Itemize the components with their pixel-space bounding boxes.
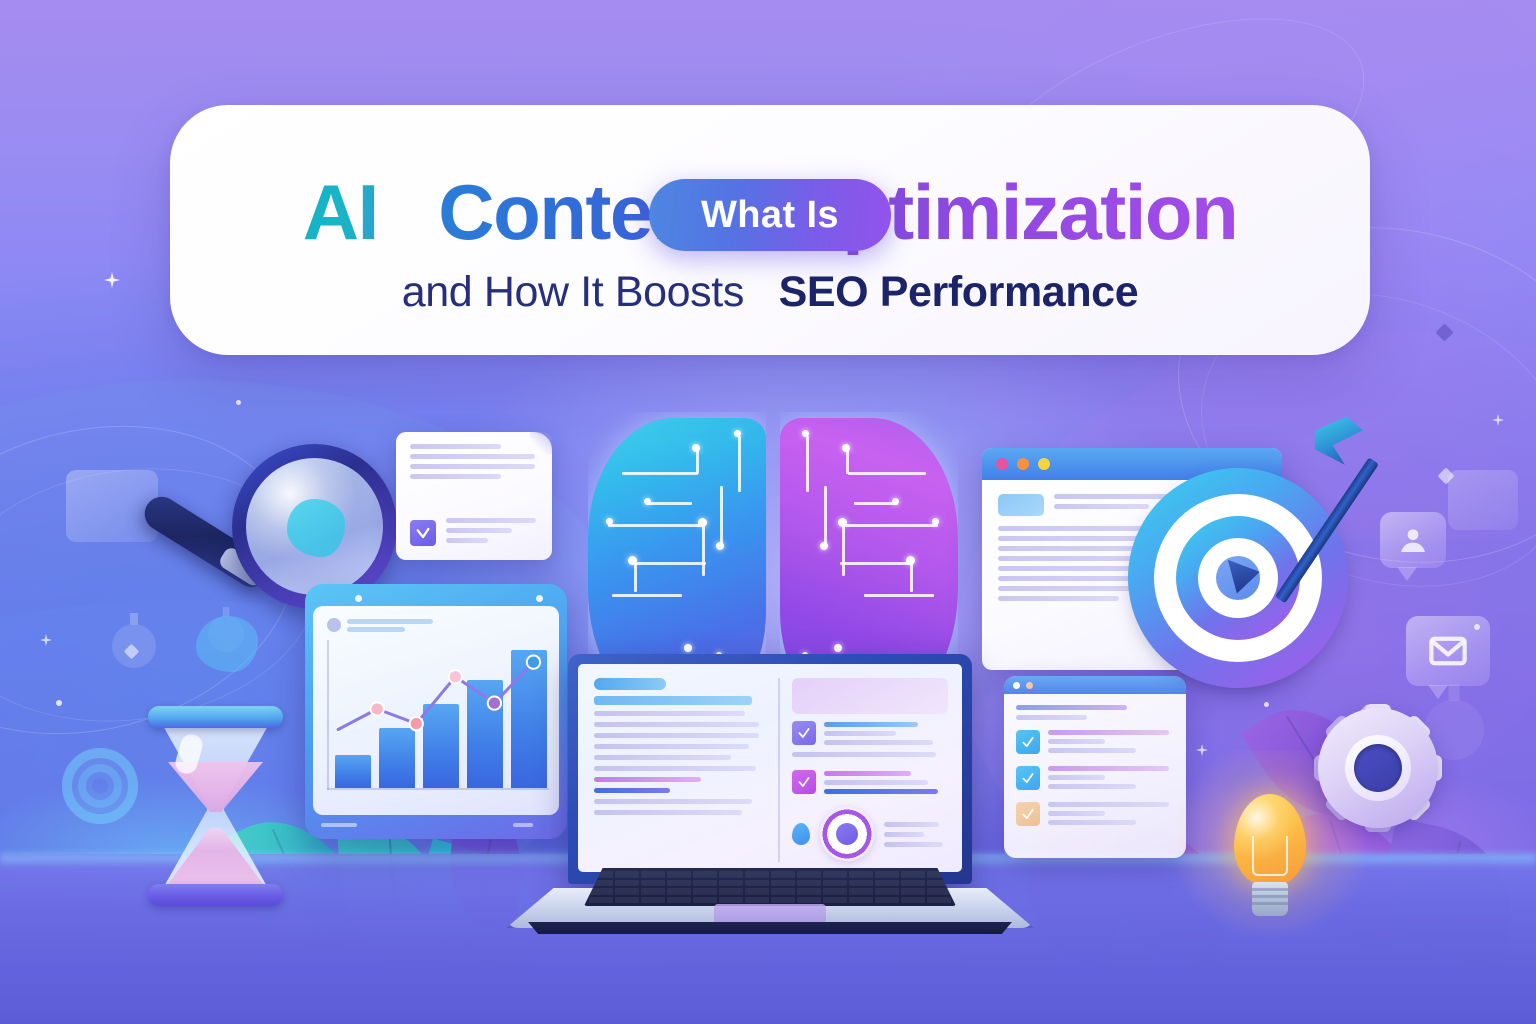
keyboard-key [615,880,639,887]
keyboard-key [797,880,821,887]
progress-donut-icon [820,807,874,861]
checklist-item-lines [1048,730,1174,757]
keyboard-key [823,888,847,895]
screen-checklist-item [792,770,948,794]
chart-data-point [410,717,423,730]
subtitle-bold: SEO Performance [779,268,1139,316]
document-text-line [446,538,488,543]
keyboard-key [771,897,795,904]
checklist-text-line [1048,739,1105,744]
keyboard-key [615,897,639,904]
keyboard-key [875,897,899,904]
page-subtitle: and How It Boosts SEO Performance [402,271,1138,314]
keyboard-key [875,880,899,887]
keyboard-key [667,897,691,904]
keyboard-key [693,888,717,895]
document-card-icon [396,432,552,560]
screen-text-line [884,822,939,827]
screen-text-line [594,788,670,793]
screen-text-line [594,711,745,716]
document-text-group [446,518,540,548]
screen-image-placeholder [792,678,948,714]
chart-legend [327,618,549,632]
checklist-text-line [1048,766,1169,771]
checkbox-icon [792,721,816,745]
checklist-text-line [1048,748,1136,753]
progress-donut-core [836,823,858,845]
screen-item-lines [884,822,948,847]
laptop-trackpad [714,904,826,924]
checklist-text-line [1048,784,1136,789]
background-dot [1264,702,1269,707]
title-word-ai: AI [303,168,378,256]
keyboard-key [641,888,665,895]
keyboard-key [745,888,769,895]
browser-thumbnail [998,494,1044,516]
background-dot [56,700,62,706]
keyboard-key [745,880,769,887]
checklist-text-line [1048,811,1105,816]
gear-center-hole [1354,744,1402,792]
background-card-icon [1448,470,1518,530]
chart-legend-labels [347,619,433,632]
checklist-item-lines [1048,766,1174,793]
document-text-line [446,518,536,523]
hourglass-cap-bottom [148,884,283,906]
screen-item-lines [824,722,948,745]
checklist-item-lines [1048,802,1174,829]
lightbulb-filament [1252,836,1288,876]
keyboard-key [615,888,639,895]
gear-icon [1318,708,1438,828]
laptop-icon [506,654,1034,946]
document-fold [530,432,552,454]
keyboard-key [693,880,717,887]
document-checkbox-icon [410,520,436,546]
keyboard-key [693,871,717,878]
laptop-screen [578,664,962,872]
chart-data-point [371,702,384,715]
keyboard-key [797,888,821,895]
checklist-item [1016,802,1174,829]
keyboard-key [823,897,847,904]
keyboard-key [901,888,925,895]
screen-text-line [594,722,759,727]
checklist-text-line [1048,730,1169,735]
hourglass-icon [148,706,283,906]
screen-divider [778,678,780,862]
checklist-text-line [1048,820,1136,825]
document-text-line [410,454,535,459]
keyboard-key [641,897,665,904]
keyboard-key [719,897,743,904]
chart-panel-titlebar [313,592,559,606]
keyboard-key [745,897,769,904]
keyboard-key [693,897,717,904]
browser-dot-maximize [1038,458,1050,470]
keyboard-key [849,897,873,904]
screen-text-line [594,799,752,804]
document-text-line [410,474,501,479]
screen-text-line [594,777,701,782]
laptop-lid [568,654,972,884]
keyboard-key [797,871,821,878]
keyboard-key [849,871,873,878]
user-icon [1380,512,1446,568]
keyboard-key [901,880,925,887]
screen-text-line [792,752,936,757]
mail-icon [1406,616,1490,686]
screen-progress-row [792,807,948,861]
lightbulb-base [1252,882,1288,916]
keyboard-key [901,871,925,878]
checklist-text-line [1048,775,1105,780]
checklist-item [1016,730,1174,757]
hero-banner: What Is AI Content Optimization and How … [0,0,1536,1024]
magnifier-lens [246,458,383,595]
keyboard-key [719,888,743,895]
chart-legend-swatch [327,618,341,632]
checklist-item [1016,766,1174,793]
keyboard-key [771,871,795,878]
keyboard-key [589,888,613,895]
screen-text-line [594,744,749,749]
screen-text-line [824,722,918,727]
document-text-line [446,528,512,533]
keyboard-key [615,871,639,878]
screen-text-line [884,842,943,847]
screen-text-line [594,733,759,738]
badge-what-is[interactable]: What Is [649,179,891,251]
screen-text-line [594,810,742,815]
keyboard-key [875,871,899,878]
chart-data-point [488,696,501,709]
checklist-text-line [1048,802,1169,807]
screen-marker-icon [792,823,810,845]
keyboard-key [667,880,691,887]
lightbulb-icon [1224,790,1316,920]
screen-text-line [594,766,756,771]
keyboard-key [823,871,847,878]
badge-label: What Is [701,194,839,236]
keyboard-key [719,880,743,887]
screen-checklist-item [792,721,948,745]
screen-text-line [824,740,933,745]
screen-left-column [594,678,766,862]
chart-panel-dot [355,595,362,602]
keyboard-key [875,888,899,895]
keyboard-key [771,888,795,895]
document-heading-line [410,444,501,449]
laptop-keyboard [584,868,956,906]
keyboard-key [797,897,821,904]
screen-text-line [594,755,731,760]
keyboard-key [641,880,665,887]
keyboard-key [667,871,691,878]
speech-bubble-mail-icon [1406,616,1490,686]
laptop-base-shadow [518,922,1022,934]
keyboard-key [745,871,769,878]
keyboard-key [849,880,873,887]
keyboard-key [641,871,665,878]
screen-text-line [824,789,938,794]
target-bullseye-icon [1128,468,1348,688]
screen-text-line [824,731,896,736]
chart-panel-dot [536,595,543,602]
keyboard-key [901,897,925,904]
screen-item-lines [824,771,948,794]
keyboard-key [667,888,691,895]
chart-data-point [449,670,462,683]
keyboard-key [927,888,951,895]
magnifier-content [287,499,345,557]
browser-text-line [998,596,1119,601]
keyboard-key [589,897,613,904]
keyboard-key [771,880,795,887]
document-text-line [410,464,535,469]
screen-tag [594,678,666,690]
screen-right-column [792,678,948,862]
checkbox-icon [792,770,816,794]
keyboard-key [823,880,847,887]
title-card: What Is AI Content Optimization and How … [170,105,1370,355]
background-dot [236,400,241,405]
keyboard-key [719,871,743,878]
keyboard-key [849,888,873,895]
screen-text-line [884,832,924,837]
hourglass-cap-top [148,706,283,728]
screen-text-line [824,780,928,785]
screen-heading-line [594,696,752,705]
subtitle-regular: and How It Boosts [402,268,744,316]
keyboard-key [927,897,951,904]
browser-dot-close [996,458,1008,470]
speech-bubble-user-icon [1380,512,1446,568]
screen-text-line [824,771,911,776]
browser-dot-minimize [1017,458,1029,470]
